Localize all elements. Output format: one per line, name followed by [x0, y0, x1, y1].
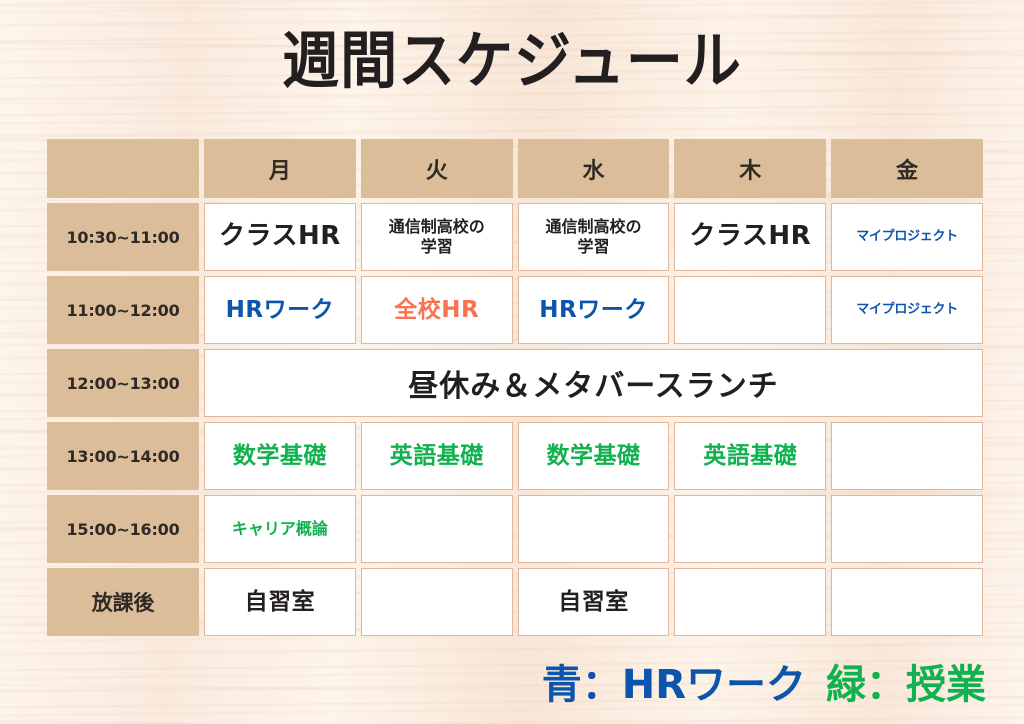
schedule-cell-label: 数学基礎: [233, 442, 327, 470]
schedule-cell[interactable]: [518, 495, 670, 563]
day-header-5: 金: [831, 139, 983, 198]
schedule-cell[interactable]: HRワーク: [518, 276, 670, 344]
timetable-row: 放課後自習室自習室: [47, 568, 983, 636]
timetable-row: 10:30~11:00クラスHR通信制高校の学習通信制高校の学習クラスHRマイプ…: [47, 203, 983, 271]
schedule-cell[interactable]: 自習室: [204, 568, 356, 636]
timetable-header-row: 月火水木金: [47, 139, 983, 198]
schedule-cell-label: 数学基礎: [546, 442, 640, 470]
time-label: 12:00~13:00: [47, 349, 199, 417]
schedule-cell[interactable]: マイプロジェクト: [831, 203, 983, 271]
timetable-row: 12:00~13:00昼休み＆メタバースランチ: [47, 349, 983, 417]
schedule-cell-label: 通信制高校の学習: [389, 217, 485, 256]
schedule-cell-label: 英語基礎: [390, 442, 484, 470]
lunch-break-label: 昼休み＆メタバースランチ: [408, 361, 779, 405]
schedule-cell[interactable]: HRワーク: [204, 276, 356, 344]
schedule-cell[interactable]: [831, 422, 983, 490]
schedule-cell[interactable]: クラスHR: [204, 203, 356, 271]
schedule-cell-label: クラスHR: [689, 221, 811, 253]
time-label: 13:00~14:00: [47, 422, 199, 490]
schedule-cell[interactable]: キャリア概論: [204, 495, 356, 563]
time-label: 15:00~16:00: [47, 495, 199, 563]
schedule-cell-label: クラスHR: [219, 221, 341, 253]
schedule-cell[interactable]: 通信制高校の学習: [361, 203, 513, 271]
schedule-cell[interactable]: [674, 568, 826, 636]
schedule-cell-label: 自習室: [245, 588, 316, 616]
schedule-cell-label: HRワーク: [226, 296, 334, 324]
schedule-cell[interactable]: クラスHR: [674, 203, 826, 271]
day-header-1: 月: [204, 139, 356, 198]
day-header-3: 水: [518, 139, 670, 198]
legend-green-label: 緑：授業: [826, 652, 986, 710]
schedule-cell[interactable]: 英語基礎: [361, 422, 513, 490]
schedule-cell[interactable]: [674, 276, 826, 344]
schedule-cell[interactable]: 自習室: [518, 568, 670, 636]
legend-blue-label: 青：HRワーク: [542, 652, 806, 710]
timetable-row: 11:00~12:00HRワーク全校HRHRワークマイプロジェクト: [47, 276, 983, 344]
schedule-cell[interactable]: マイプロジェクト: [831, 276, 983, 344]
schedule-cell[interactable]: 数学基礎: [204, 422, 356, 490]
schedule-cell-label: HRワーク: [539, 296, 647, 324]
time-label: 放課後: [47, 568, 199, 636]
schedule-cell[interactable]: [361, 495, 513, 563]
schedule-cell[interactable]: [361, 568, 513, 636]
schedule-cell[interactable]: [831, 568, 983, 636]
weekly-timetable: 月火水木金10:30~11:00クラスHR通信制高校の学習通信制高校の学習クラス…: [47, 139, 983, 636]
time-label: 11:00~12:00: [47, 276, 199, 344]
timetable-corner-cell: [47, 139, 199, 198]
timetable-row: 15:00~16:00キャリア概論: [47, 495, 983, 563]
schedule-cell-label: 全校HR: [394, 296, 479, 324]
day-header-4: 木: [674, 139, 826, 198]
timetable-row: 13:00~14:00数学基礎英語基礎数学基礎英語基礎: [47, 422, 983, 490]
schedule-cell-label: キャリア概論: [232, 519, 328, 539]
schedule-cell-label: マイプロジェクト: [856, 229, 958, 245]
time-label: 10:30~11:00: [47, 203, 199, 271]
page-title: 週間スケジュール: [41, 20, 983, 102]
schedule-cell[interactable]: [674, 495, 826, 563]
schedule-cell-label: 英語基礎: [703, 442, 797, 470]
schedule-cell[interactable]: [831, 495, 983, 563]
schedule-cell[interactable]: 数学基礎: [518, 422, 670, 490]
legend: 青：HRワーク 緑：授業: [542, 652, 986, 710]
day-header-2: 火: [361, 139, 513, 198]
lunch-break-cell[interactable]: 昼休み＆メタバースランチ: [204, 349, 983, 417]
schedule-cell-label: 通信制高校の学習: [545, 217, 641, 256]
schedule-cell[interactable]: 英語基礎: [674, 422, 826, 490]
schedule-cell-label: 自習室: [558, 588, 629, 616]
schedule-cell[interactable]: 通信制高校の学習: [518, 203, 670, 271]
schedule-cell[interactable]: 全校HR: [361, 276, 513, 344]
schedule-cell-label: マイプロジェクト: [856, 302, 958, 318]
